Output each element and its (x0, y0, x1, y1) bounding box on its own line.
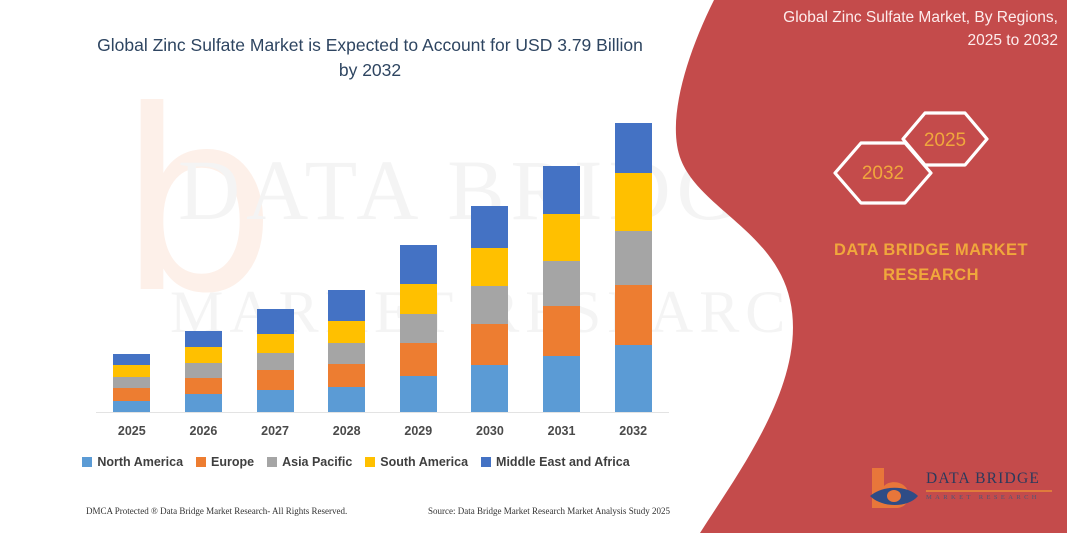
stacked-bar-chart (96, 110, 669, 412)
bar-segment (328, 364, 365, 387)
bar-segment (185, 363, 222, 378)
legend-item[interactable]: South America (365, 455, 468, 469)
legend-label: Middle East and Africa (496, 455, 630, 469)
logo-mark-icon (868, 466, 920, 512)
bar-segment (400, 245, 437, 284)
bar-segment (471, 324, 508, 366)
x-axis-label: 2027 (245, 424, 305, 438)
chart-legend: North AmericaEuropeAsia PacificSouth Ame… (0, 455, 712, 469)
data-bridge-logo: DATA BRIDGE MARKET RESEARCH (868, 466, 1058, 516)
x-axis-labels: 20252026202720282029203020312032 (96, 424, 669, 444)
x-axis-label: 2026 (173, 424, 233, 438)
bar-segment (257, 334, 294, 353)
bar-segment (185, 347, 222, 363)
legend-label: Europe (211, 455, 254, 469)
x-axis-label: 2031 (532, 424, 592, 438)
bar-segment (400, 284, 437, 314)
legend-swatch (267, 457, 277, 467)
bar-segment (400, 376, 437, 412)
bar-segment (543, 214, 580, 261)
bar-segment (257, 390, 294, 412)
logo-text: DATA BRIDGE MARKET RESEARCH (926, 470, 1058, 501)
bar-column (328, 290, 365, 412)
bar-segment (400, 343, 437, 375)
legend-label: South America (380, 455, 468, 469)
bar-segment (113, 354, 150, 365)
x-axis-label: 2030 (460, 424, 520, 438)
bar-segment (615, 123, 652, 173)
bar-column (543, 166, 580, 412)
bar-segment (185, 378, 222, 395)
brand-line-1: DATA BRIDGE MARKET (800, 238, 1062, 263)
hexagon-group: 2032 2025 (815, 95, 1055, 215)
legend-item[interactable]: North America (82, 455, 183, 469)
brand-text: DATA BRIDGE MARKET RESEARCH (800, 238, 1062, 288)
bar-segment (615, 231, 652, 285)
x-axis-label: 2028 (317, 424, 377, 438)
hexagon-2032-label: 2032 (862, 163, 904, 184)
legend-swatch (481, 457, 491, 467)
bar-column (185, 331, 222, 412)
bar-segment (185, 331, 222, 348)
infographic-root: b DATA BRIDGE MARKET RESEARCH Global Zin… (0, 0, 1067, 533)
bar-column (113, 354, 150, 412)
legend-item[interactable]: Middle East and Africa (481, 455, 630, 469)
bar-segment (471, 365, 508, 412)
bar-segment (113, 388, 150, 400)
bar-column (471, 206, 508, 412)
logo-title: DATA BRIDGE (926, 470, 1058, 488)
bar-segment (400, 314, 437, 343)
bar-segment (185, 394, 222, 412)
bar-segment (113, 377, 150, 388)
bar-segment (471, 286, 508, 323)
legend-swatch (365, 457, 375, 467)
bar-segment (615, 285, 652, 345)
bar-segment (543, 356, 580, 412)
panel-title: Global Zinc Sulfate Market, By Regions, … (770, 6, 1058, 53)
bar-segment (471, 206, 508, 248)
chart-baseline (96, 412, 669, 413)
x-axis-label: 2025 (102, 424, 162, 438)
bar-column (257, 309, 294, 412)
legend-item[interactable]: Europe (196, 455, 254, 469)
bar-segment (328, 343, 365, 364)
bar-segment (328, 387, 365, 412)
legend-label: North America (97, 455, 183, 469)
logo-divider (926, 490, 1052, 492)
legend-label: Asia Pacific (282, 455, 352, 469)
logo-subtitle: MARKET RESEARCH (926, 494, 1058, 501)
legend-swatch (82, 457, 92, 467)
bar-segment (257, 370, 294, 390)
bar-segment (615, 173, 652, 231)
bar-segment (257, 353, 294, 371)
brand-line-2: RESEARCH (800, 263, 1062, 288)
bar-segment (113, 401, 150, 412)
x-axis-label: 2029 (388, 424, 448, 438)
chart-title: Global Zinc Sulfate Market is Expected t… (95, 33, 645, 84)
legend-item[interactable]: Asia Pacific (267, 455, 352, 469)
footer-copyright: DMCA Protected ® Data Bridge Market Rese… (86, 506, 347, 516)
bar-segment (543, 261, 580, 306)
bar-segment (113, 365, 150, 376)
bar-column (400, 245, 437, 412)
bar-segment (328, 290, 365, 321)
bar-column (615, 123, 652, 412)
hexagon-2025-label: 2025 (924, 130, 966, 151)
bar-segment (615, 345, 652, 412)
legend-swatch (196, 457, 206, 467)
footer-source: Source: Data Bridge Market Research Mark… (428, 506, 670, 516)
bar-segment (328, 321, 365, 343)
bar-segment (471, 248, 508, 287)
bar-segment (543, 166, 580, 214)
bar-segment (543, 306, 580, 356)
bar-segment (257, 309, 294, 334)
footer: DMCA Protected ® Data Bridge Market Rese… (0, 506, 712, 524)
x-axis-label: 2032 (603, 424, 663, 438)
